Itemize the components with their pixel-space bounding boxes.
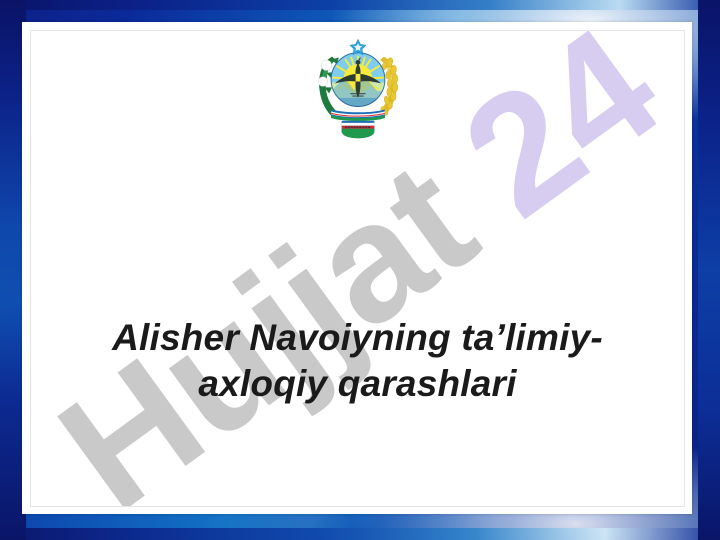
slide-canvas: Hujjat 24 xyxy=(0,0,720,540)
background-top-band xyxy=(0,0,720,10)
title-line-1: Alisher Navoiyning ta’limiy- xyxy=(112,317,603,358)
background-right-band xyxy=(698,0,720,540)
state-emblem-of-uzbekistan-icon xyxy=(310,37,406,141)
watermark-number: 24 xyxy=(430,30,685,252)
page-frame: Hujjat 24 xyxy=(22,22,692,514)
page-title: Alisher Navoiyning ta’limiy-axloqiy qara… xyxy=(67,315,648,406)
slide-title-block: Alisher Navoiyning ta’limiy-axloqiy qara… xyxy=(31,315,684,406)
background-bottom-band xyxy=(0,528,720,540)
title-line-2: axloqiy qarashlari xyxy=(198,363,516,404)
page-content-area: Hujjat 24 xyxy=(30,30,685,507)
